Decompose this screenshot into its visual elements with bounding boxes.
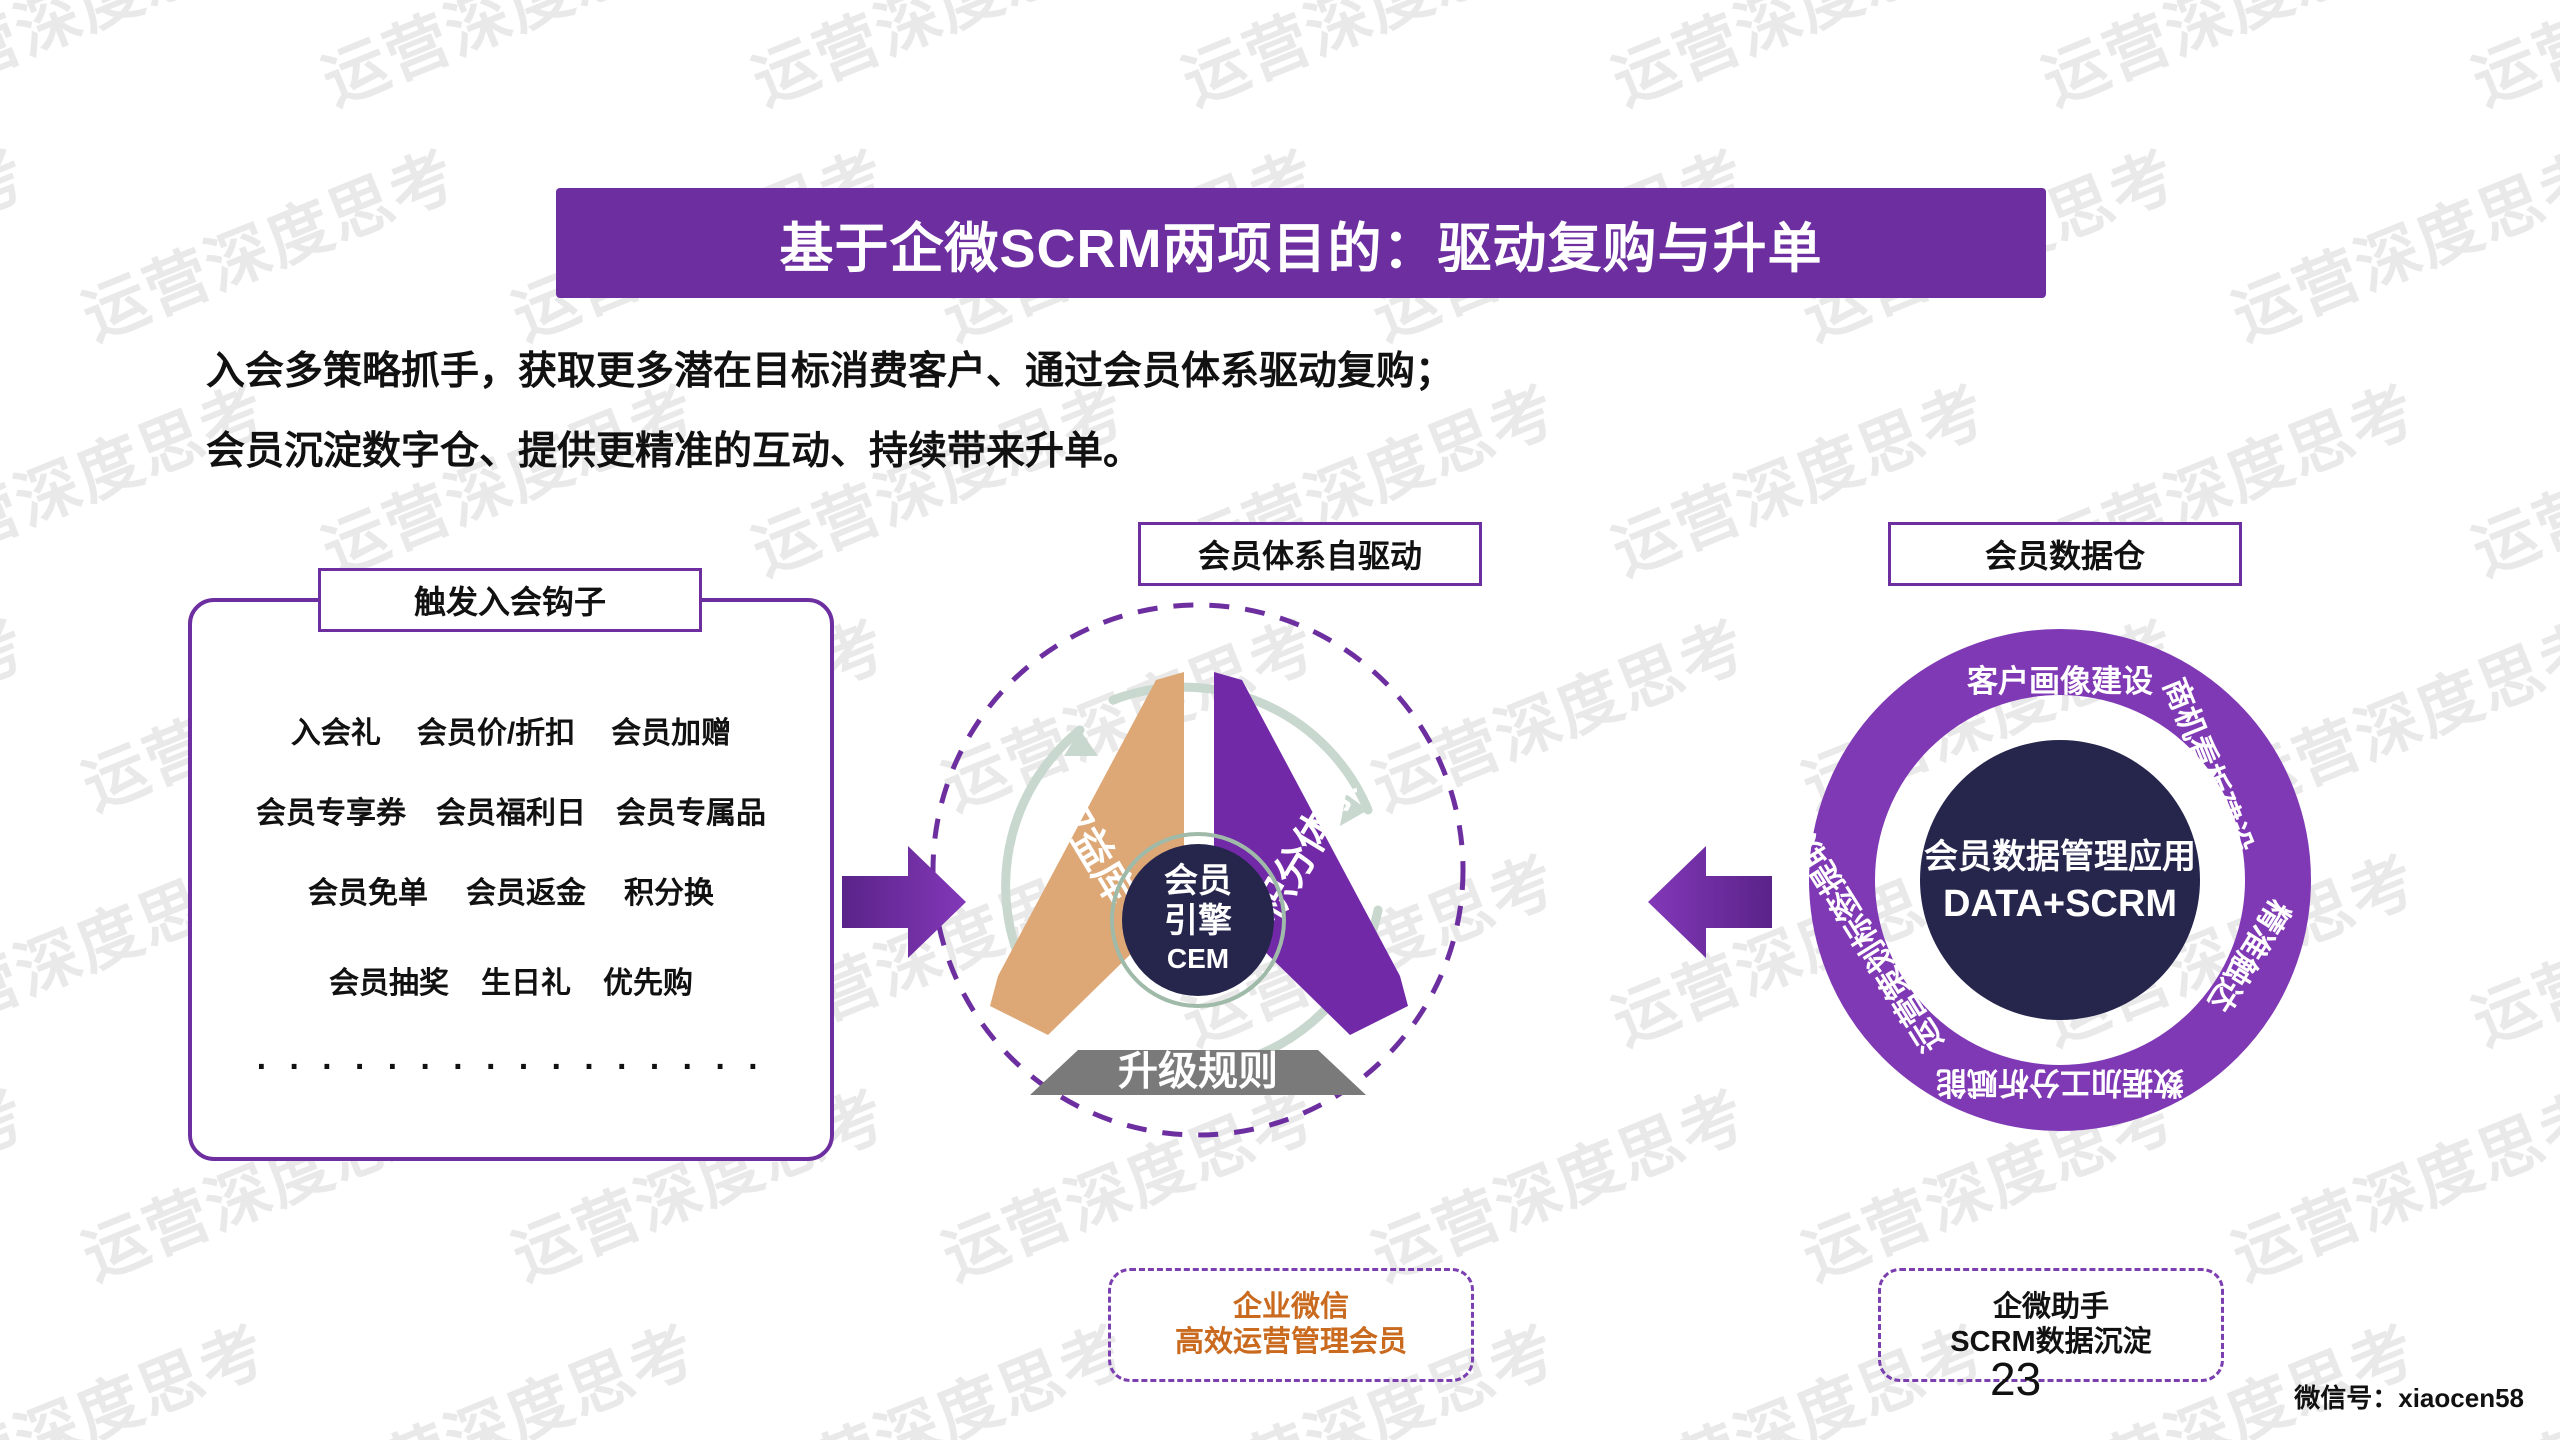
watermark-text: 运营深度思考 <box>0 124 39 358</box>
watermark-text: 运营深度思考 <box>0 594 39 828</box>
footer-center-line1: 企业微信 <box>1233 1290 1349 1325</box>
hook-item: 会员专属品 <box>616 798 766 830</box>
watermark-text: 运营深度思考 <box>2457 0 2560 123</box>
footer-right-line1: 企微助手 <box>1993 1290 2109 1325</box>
watermark-text: 运营深度思考 <box>737 1299 1139 1440</box>
wechat-id-label: 微信号：xiaocen58 <box>2294 1378 2524 1415</box>
hook-item: 会员价/折扣 <box>417 718 575 750</box>
watermark-text: 运营深度思考 <box>2457 829 2560 1063</box>
trigger-join-hooks-panel: 入会礼 会员价/折扣 会员加赠 会员专享券 会员福利日 会员专属品 会员免单 会… <box>188 598 834 1161</box>
watermark-text: 运营深度思考 <box>0 1064 39 1298</box>
subtitle-line-2: 会员沉淀数字仓、提供更精准的互动、持续带来升单。 <box>206 420 1142 476</box>
footer-right-box: 企微助手 SCRM数据沉淀 <box>1878 1268 2224 1382</box>
hook-item: 入会礼 <box>291 718 381 750</box>
page-number: 23 <box>1990 1352 2041 1406</box>
hook-row: 会员专享券 会员福利日 会员专属品 <box>192 798 830 830</box>
left-panel-caption-label: 触发入会钩子 <box>414 577 606 623</box>
hook-item: 会员抽奖 <box>329 968 449 1000</box>
watermark-text: 运营深度思考 <box>307 0 709 123</box>
hook-row: 入会礼 会员价/折扣 会员加赠 <box>192 718 830 750</box>
hook-item: 会员福利日 <box>436 798 586 830</box>
hook-item: 积分换 <box>624 878 714 910</box>
watermark-text: 运营深度思考 <box>2457 1299 2560 1440</box>
right-caption: 会员数据仓 <box>1888 522 2242 586</box>
watermark-text: 运营深度思考 <box>1597 0 1999 123</box>
hook-item: 会员免单 <box>308 878 428 910</box>
right-caption-label: 会员数据仓 <box>1985 531 2145 577</box>
ring-label-0: 客户画像建设 <box>1967 664 2153 699</box>
watermark-text: 运营深度思考 <box>2217 124 2560 358</box>
watermark-text: 运营深度思考 <box>67 124 469 358</box>
watermark-text: 运营深度思考 <box>2027 0 2429 123</box>
footer-center-box: 企业微信 高效运营管理会员 <box>1108 1268 1474 1382</box>
hook-item: 生日礼 <box>481 968 571 1000</box>
blade-upgrade-rules: 升级规则 <box>1030 1050 1366 1095</box>
page-title-banner: 基于企微SCRM两项目的：驱动复购与升单 <box>556 188 2046 298</box>
ellipsis-dots: · · · · · · · · · · · · · · · · <box>192 1048 830 1087</box>
arrow-left-icon <box>1648 842 1774 962</box>
arrow-right-icon <box>842 842 968 962</box>
hook-row: 会员抽奖 生日礼 优先购 <box>192 968 830 1000</box>
core-label-line2: 引擎 <box>1164 902 1232 940</box>
donut-core <box>1920 740 2200 1020</box>
core-label-line1: 会员 <box>1164 862 1232 900</box>
watermark-text: 运营深度思考 <box>307 1299 709 1440</box>
page-title: 基于企微SCRM两项目的：驱动复购与升单 <box>780 204 1823 283</box>
center-caption: 会员体系自驱动 <box>1138 522 1482 586</box>
footer-center-line2: 高效运营管理会员 <box>1175 1325 1407 1360</box>
subtitle-line-1: 入会多策略抓手，获取更多潜在目标消费客户、通过会员体系驱动复购； <box>206 340 1454 396</box>
hook-row: 会员免单 会员返金 积分换 <box>192 878 830 910</box>
blade-label-upgrade: 升级规则 <box>1118 1050 1278 1094</box>
watermark-text: 运营深度思考 <box>2457 359 2560 593</box>
hook-item: 会员返金 <box>466 878 586 910</box>
watermark-text: 运营深度思考 <box>0 0 279 123</box>
ring-label-3: 数据加工分析赋能 <box>1936 1065 2184 1100</box>
footer-right-line2: SCRM数据沉淀 <box>1950 1325 2151 1360</box>
hook-item: 会员专享券 <box>256 798 406 830</box>
member-data-warehouse-donut: 会员数据管理应用 DATA+SCRM 客户画像建设 商机看板建设 精准触达 数据… <box>1800 620 2320 1140</box>
hook-item: 会员加赠 <box>611 718 731 750</box>
donut-core-line1: 会员数据管理应用 <box>1924 838 2196 876</box>
watermark-text: 运营深度思考 <box>737 0 1139 123</box>
hook-item: 优先购 <box>603 968 693 1000</box>
watermark-text: 运营深度思考 <box>0 1299 279 1440</box>
left-panel-caption: 触发入会钩子 <box>318 568 702 632</box>
core-label-line3: CEM <box>1167 943 1229 974</box>
donut-core-line2: DATA+SCRM <box>1943 883 2177 925</box>
watermark-text: 运营深度思考 <box>1167 0 1569 123</box>
member-system-triangle-diagram: 权益库 积分体系 升级规则 会员 引擎 CEM <box>898 580 1498 1180</box>
center-caption-label: 会员体系自驱动 <box>1198 531 1422 577</box>
